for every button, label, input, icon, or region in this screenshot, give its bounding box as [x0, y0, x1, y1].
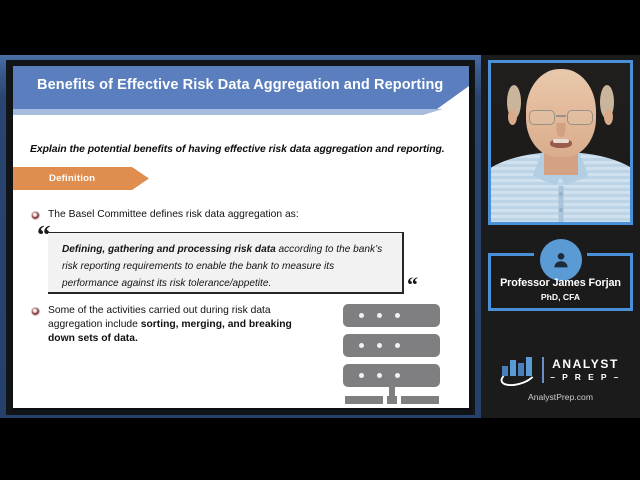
presenter-nose	[556, 123, 565, 137]
avatar	[540, 239, 582, 281]
letterbox-top	[0, 0, 640, 55]
presenter-nameplate: Professor James Forjan PhD, CFA	[488, 239, 633, 311]
server-led-icon	[359, 313, 364, 318]
logo-wordmark: ANALYST – P R E P –	[550, 358, 621, 382]
server-led-icon	[395, 373, 400, 378]
bullet-text: The Basel Committee defines risk data ag…	[48, 208, 299, 222]
brand-logo[interactable]: ANALYST – P R E P – AnalystPrep.com	[481, 353, 640, 402]
brand-logo-row: ANALYST – P R E P –	[481, 353, 640, 387]
server-connector	[389, 385, 395, 396]
server-led-icon	[359, 343, 364, 348]
server-rack	[343, 304, 440, 327]
presenter-video[interactable]	[488, 60, 633, 225]
bullet-dot-icon	[31, 307, 40, 316]
presenter-ear-left	[508, 109, 517, 125]
slide-region: Benefits of Effective Risk Data Aggregat…	[0, 55, 481, 419]
presenter-panel: Professor James Forjan PhD, CFA ANALYST …	[481, 55, 640, 419]
bullet-text: Some of the activities carried out durin…	[48, 304, 321, 346]
definition-banner-label: Definition	[49, 173, 95, 184]
server-led-icon	[359, 373, 364, 378]
logo-analyst-text: ANALYST	[552, 358, 619, 370]
glasses-bridge	[556, 115, 566, 117]
server-base-bar	[345, 396, 383, 404]
logo-divider	[542, 357, 544, 383]
server-stack-icon	[335, 304, 457, 404]
quote-box: Defining, gathering and processing risk …	[48, 232, 404, 294]
person-icon	[550, 249, 572, 271]
learning-objective-text: Explain the potential benefits of having…	[30, 144, 460, 155]
bar-chart-icon	[500, 355, 536, 385]
server-led-icon	[377, 343, 382, 348]
server-rack	[343, 364, 440, 387]
server-led-icon	[395, 313, 400, 318]
server-led-icon	[377, 373, 382, 378]
presenter-shirt-button	[559, 208, 563, 212]
server-base-bar	[387, 396, 397, 404]
logo-prep-text: – P R E P –	[550, 373, 621, 382]
glasses-lens-left	[529, 110, 555, 125]
presenter-video-inner	[491, 63, 630, 222]
page-title: Benefits of Effective Risk Data Aggregat…	[37, 77, 437, 93]
quote-text: Defining, gathering and processing risk …	[62, 241, 392, 292]
letterbox-bottom	[0, 418, 640, 480]
presenter-teeth	[553, 139, 569, 143]
video-player-stage: Benefits of Effective Risk Data Aggregat…	[0, 0, 640, 480]
slide-title-underline	[13, 109, 469, 115]
logo-url-text: AnalystPrep.com	[481, 392, 640, 402]
slide-page: Benefits of Effective Risk Data Aggregat…	[13, 66, 469, 408]
presenter-credentials: PhD, CFA	[488, 292, 633, 302]
list-item: Some of the activities carried out durin…	[31, 304, 321, 346]
presenter-name: Professor James Forjan	[488, 277, 633, 289]
presenter-ear-right	[604, 109, 613, 125]
quote-bold-part: Defining, gathering and processing risk …	[62, 244, 276, 255]
server-led-icon	[377, 313, 382, 318]
server-rack	[343, 334, 440, 357]
server-led-icon	[395, 343, 400, 348]
quote-close-icon: “	[404, 272, 420, 302]
list-item: The Basel Committee defines risk data ag…	[31, 208, 451, 222]
presenter-shirt-button	[559, 192, 563, 196]
server-base-bar	[401, 396, 439, 404]
definition-banner: Definition	[13, 167, 149, 190]
bullet-dot-icon	[31, 211, 40, 220]
glasses-lens-right	[567, 110, 593, 125]
